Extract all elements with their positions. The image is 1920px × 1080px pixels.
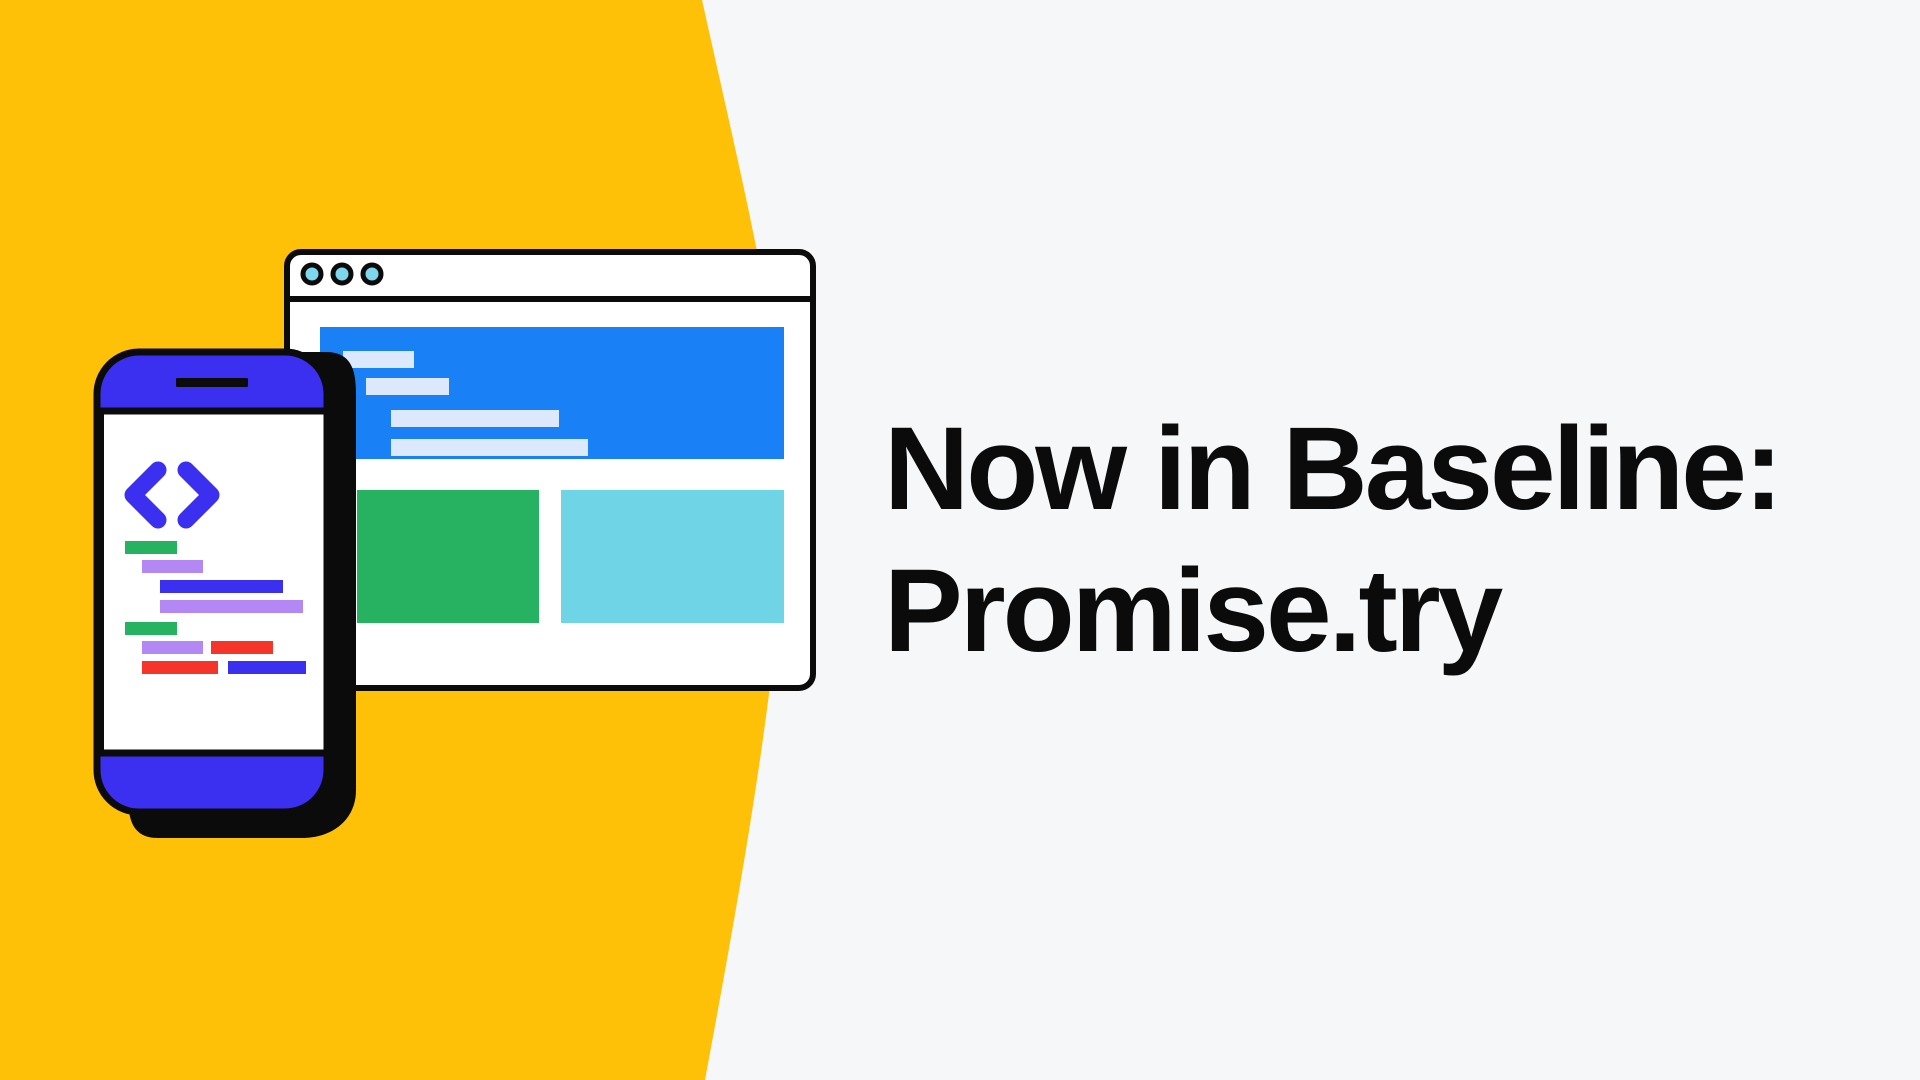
hero-text-bar-2 — [366, 378, 449, 395]
hero-text-bar-4 — [391, 439, 588, 456]
browser-traffic-lights[interactable] — [303, 265, 381, 283]
page-title: Now in Baseline: Promise.try — [884, 398, 1844, 682]
code-line-8 — [142, 661, 218, 674]
code-line-3 — [160, 580, 283, 593]
browser-window — [287, 252, 813, 688]
code-line-9 — [228, 661, 306, 674]
hero-banner: Now in Baseline: Promise.try — [0, 0, 1920, 1080]
code-line-4 — [160, 600, 303, 613]
page-title-line-1: Now in Baseline: — [884, 398, 1844, 540]
phone-speaker-slot — [176, 378, 248, 387]
code-line-2 — [142, 560, 203, 573]
maximize-dot-icon[interactable] — [363, 265, 381, 283]
close-dot-icon[interactable] — [303, 265, 321, 283]
code-line-7 — [211, 641, 273, 654]
code-line-6 — [142, 641, 203, 654]
minimize-dot-icon[interactable] — [333, 265, 351, 283]
hero-text-bar-3 — [391, 410, 559, 427]
code-line-1 — [125, 541, 177, 554]
green-card — [357, 490, 539, 623]
page-title-line-2: Promise.try — [884, 540, 1844, 682]
cyan-card — [561, 490, 784, 623]
hero-illustration — [0, 0, 900, 1080]
code-line-5 — [125, 622, 177, 635]
hero-text-bar-1 — [343, 351, 414, 368]
phone-device — [97, 352, 356, 838]
